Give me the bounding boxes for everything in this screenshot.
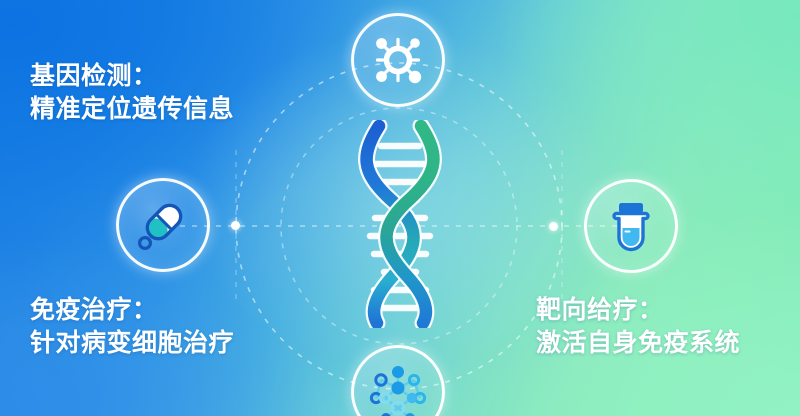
capsule-pill-icon <box>132 194 194 256</box>
molecular-network-icon <box>366 360 430 416</box>
cell-molecule-icon <box>368 30 428 90</box>
caption-immunotherapy: 免疫治疗： 针对病变细胞治疗 <box>30 294 234 359</box>
icon-bubble-top[interactable] <box>351 13 445 107</box>
caption-gene-testing-subtitle: 精准定位遗传信息 <box>30 93 234 126</box>
orbit-node-dot-right <box>549 222 558 231</box>
caption-targeted-therapy-subtitle: 激活自身免疫系统 <box>536 327 740 360</box>
caption-targeted-therapy: 靶向给疗： 激活自身免疫系统 <box>536 294 740 359</box>
caption-targeted-therapy-title: 靶向给疗： <box>536 294 740 327</box>
test-tube-icon <box>602 197 660 255</box>
caption-immunotherapy-subtitle: 针对病变细胞治疗 <box>30 327 234 360</box>
caption-immunotherapy-title: 免疫治疗： <box>30 294 234 327</box>
dna-helix-icon <box>343 120 457 328</box>
orbit-node-dot-left <box>231 221 240 230</box>
icon-bubble-right[interactable] <box>584 179 678 273</box>
infographic-canvas: 基因检测： 精准定位遗传信息 免疫治疗： 针对病变细胞治疗 靶向给疗： 激活自身… <box>0 0 800 416</box>
caption-gene-testing: 基因检测： 精准定位遗传信息 <box>30 60 234 125</box>
icon-bubble-left[interactable] <box>116 178 210 272</box>
caption-gene-testing-title: 基因检测： <box>30 60 234 93</box>
